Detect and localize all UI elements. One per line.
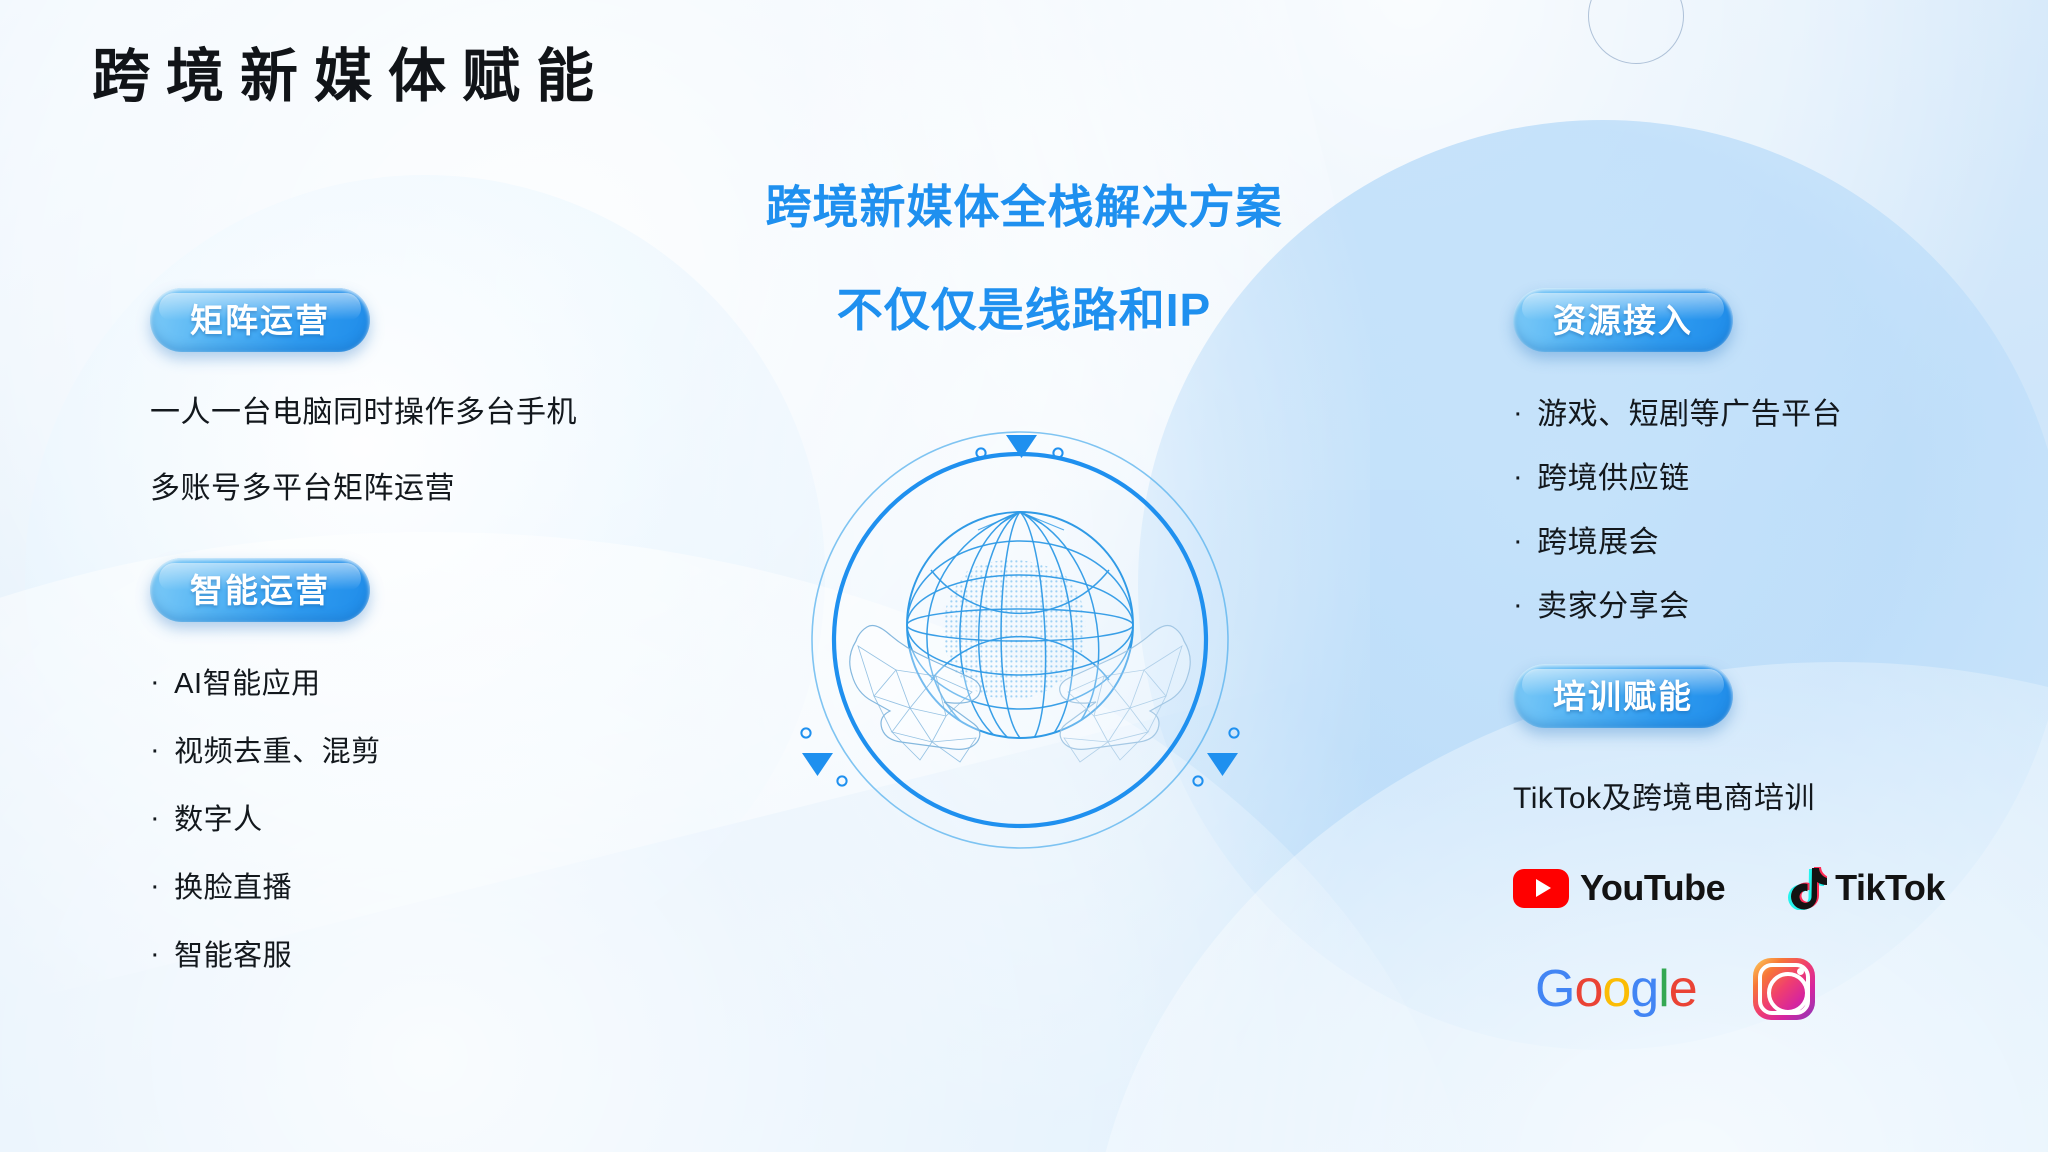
matrix-line-1: 一人一台电脑同时操作多台手机	[150, 398, 790, 428]
list-item: · 跨境展会	[1513, 528, 1983, 558]
instagram-frame-icon	[1758, 963, 1810, 1015]
group-training-empowerment: 培训赋能 TikTok及跨境电商培训 YouTube TikTok	[1513, 664, 1983, 1020]
list-item-label: 换脸直播	[174, 874, 292, 903]
pill-training-empowerment[interactable]: 培训赋能	[1513, 664, 1733, 728]
right-column: 资源接入 · 游戏、短剧等广告平台 · 跨境供应链 · 跨境展会 · 卖家分享会…	[1513, 288, 1983, 1020]
tiktok-label: TikTok	[1835, 867, 1945, 909]
pill-label: 智能运营	[190, 574, 330, 607]
pill-label: 矩阵运营	[190, 304, 330, 337]
bullet-icon: ·	[1513, 527, 1523, 556]
youtube-play-icon	[1513, 869, 1569, 908]
list-item-label: 数字人	[174, 806, 263, 835]
bullet-icon: ·	[150, 872, 160, 901]
list-item: · 视频去重、混剪	[150, 738, 790, 767]
bullet-icon: ·	[1513, 399, 1523, 428]
list-item-label: AI智能应用	[174, 670, 320, 699]
resource-access-list: · 游戏、短剧等广告平台 · 跨境供应链 · 跨境展会 · 卖家分享会	[1513, 400, 1983, 622]
bullet-icon: ·	[150, 940, 160, 969]
tiktok-note-icon	[1785, 866, 1827, 910]
list-item-label: 视频去重、混剪	[174, 738, 381, 767]
pill-label: 培训赋能	[1553, 680, 1693, 713]
list-item: · 游戏、短剧等广告平台	[1513, 400, 1983, 430]
list-item-label: 跨境展会	[1537, 528, 1659, 558]
bullet-icon: ·	[150, 668, 160, 697]
list-item-label: 游戏、短剧等广告平台	[1537, 400, 1842, 430]
matrix-line-2: 多账号多平台矩阵运营	[150, 474, 790, 504]
google-letter-g2: g	[1630, 963, 1658, 1015]
list-item-label: 智能客服	[174, 942, 292, 971]
pill-matrix-operations[interactable]: 矩阵运营	[150, 288, 370, 352]
logo-row-2: Google	[1513, 958, 1983, 1020]
page-title: 跨境新媒体赋能	[92, 48, 610, 106]
youtube-label: YouTube	[1580, 867, 1725, 909]
bullet-icon: ·	[1513, 463, 1523, 492]
pill-label: 资源接入	[1553, 304, 1693, 337]
smart-operations-list: · AI智能应用 · 视频去重、混剪 · 数字人 · 换脸直播 · 智能客服	[150, 670, 790, 971]
list-item-label: 跨境供应链	[1537, 464, 1690, 494]
bullet-icon: ·	[150, 736, 160, 765]
list-item: · 智能客服	[150, 942, 790, 971]
instagram-logo[interactable]	[1753, 958, 1815, 1020]
pill-smart-operations[interactable]: 智能运营	[150, 558, 370, 622]
group-matrix-operations: 矩阵运营 一人一台电脑同时操作多台手机 多账号多平台矩阵运营	[150, 288, 790, 504]
google-letter-g1: G	[1535, 963, 1574, 1015]
google-logo[interactable]: Google	[1535, 963, 1697, 1015]
left-column: 矩阵运营 一人一台电脑同时操作多台手机 多账号多平台矩阵运营 智能运营 · AI…	[150, 288, 790, 1010]
youtube-logo[interactable]: YouTube	[1513, 867, 1725, 909]
bullet-icon: ·	[1513, 591, 1523, 620]
list-item: · 换脸直播	[150, 874, 790, 903]
list-item: · 数字人	[150, 806, 790, 835]
google-letter-o1: o	[1574, 963, 1602, 1015]
group-smart-operations: 智能运营 · AI智能应用 · 视频去重、混剪 · 数字人 · 换脸直播 · 智…	[150, 558, 790, 971]
list-item: · 跨境供应链	[1513, 464, 1983, 494]
google-letter-o2: o	[1602, 963, 1630, 1015]
training-note: TikTok及跨境电商培训	[1513, 784, 1983, 814]
group-resource-access: 资源接入 · 游戏、短剧等广告平台 · 跨境供应链 · 跨境展会 · 卖家分享会	[1513, 288, 1983, 622]
logo-row-1: YouTube TikTok	[1513, 866, 1983, 910]
list-item-label: 卖家分享会	[1537, 592, 1690, 622]
left-column-spacer	[150, 504, 790, 558]
list-item: · 卖家分享会	[1513, 592, 1983, 622]
google-letter-e: e	[1669, 963, 1697, 1015]
list-item: · AI智能应用	[150, 670, 790, 699]
google-letter-l: l	[1658, 963, 1669, 1015]
bullet-icon: ·	[150, 804, 160, 833]
tiktok-logo[interactable]: TikTok	[1785, 866, 1945, 910]
globe-in-hands-illustration	[800, 420, 1240, 860]
pill-resource-access[interactable]: 资源接入	[1513, 288, 1733, 352]
